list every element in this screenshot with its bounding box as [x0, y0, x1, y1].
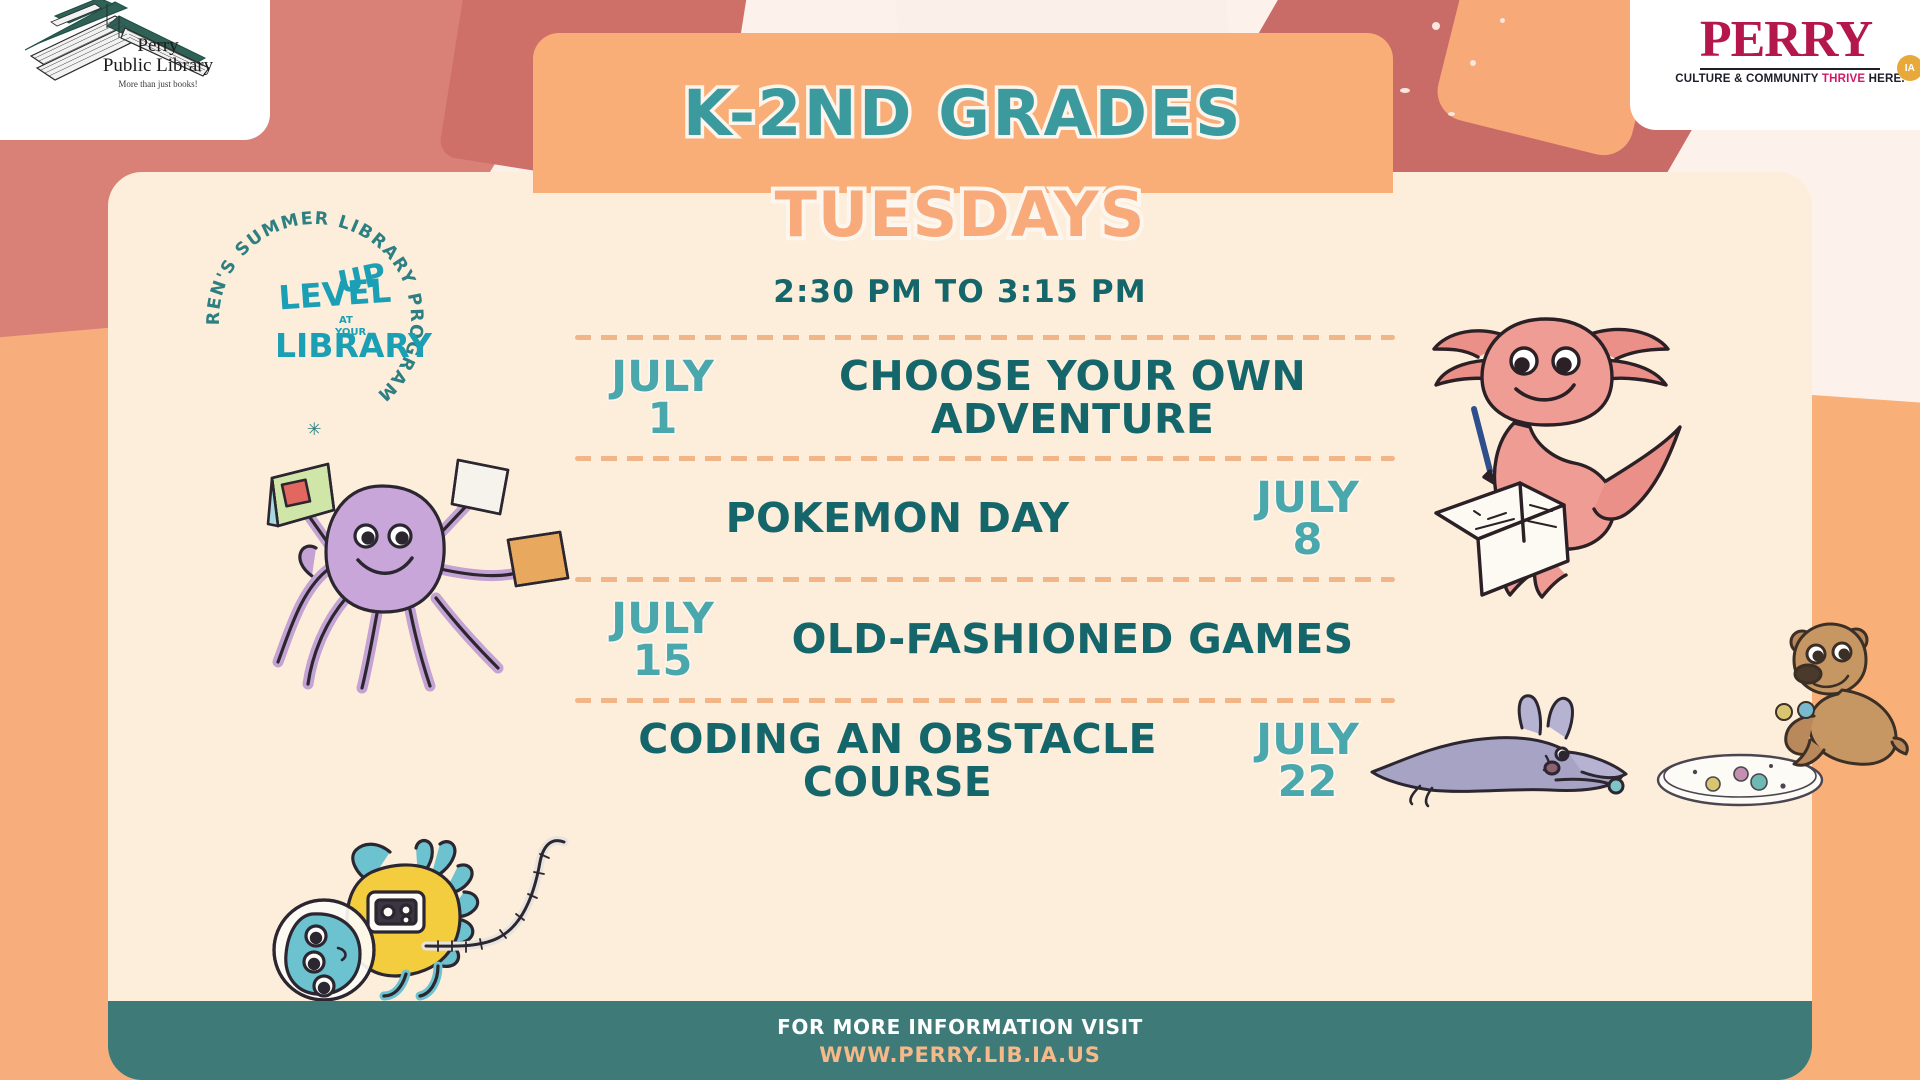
schedule-day: 8: [1220, 519, 1395, 561]
library-tagline: More than just books!: [83, 79, 233, 89]
background-speck: [1500, 18, 1505, 23]
alien-astronaut-illustration: [272, 838, 572, 1003]
banner-title: K-2ND GRADES: [683, 77, 1243, 150]
schedule-date: JULY22: [1220, 719, 1395, 803]
schedule-row: JULY22CODING AN OBSTACLE COURSE: [575, 703, 1395, 819]
background-speck: [1470, 60, 1476, 66]
bear-with-marbles-illustration: [1780, 620, 1910, 770]
octopus-with-books-illustration: [250, 448, 570, 698]
divider: [1700, 68, 1880, 70]
perry-public-library-logo: Perry Public Library More than just book…: [0, 0, 270, 140]
library-name-line1: Perry: [83, 36, 233, 56]
schedule-day: 22: [1220, 761, 1395, 803]
background-speck: [1432, 22, 1440, 30]
schedule-day: 1: [575, 398, 750, 440]
axolotl-writing-illustration: [1418, 305, 1708, 605]
schedule-event-title: CODING AN OBSTACLE COURSE: [575, 718, 1220, 805]
footer-website-url[interactable]: WWW.PERRY.LIB.IA.US: [819, 1043, 1100, 1067]
schedule-date: JULY1: [575, 356, 750, 440]
city-of-perry-logo: PERRY IA CULTURE & COMMUNITY THRIVE HERE…: [1630, 0, 1920, 130]
schedule-event-title: OLD-FASHIONED GAMES: [750, 618, 1395, 661]
aardvark-illustration: [1370, 690, 1650, 810]
badge-center-library: LIBRARY: [275, 326, 433, 365]
schedule-day: 15: [575, 640, 750, 682]
footer-line-1: FOR MORE INFORMATION VISIT: [777, 1015, 1143, 1039]
perry-state-badge: IA: [1897, 55, 1920, 81]
schedule-row: JULY1CHOOSE YOUR OWN ADVENTURE: [575, 340, 1395, 456]
badge-center-at: AT: [339, 315, 353, 326]
schedule-event-title: POKEMON DAY: [575, 497, 1220, 540]
perry-tagline: CULTURE & COMMUNITY THRIVE HERE.: [1675, 73, 1905, 85]
day-heading: TUESDAYS: [0, 178, 1920, 251]
badge-star-icon: ✳: [307, 420, 323, 440]
schedule-row: JULY8POKEMON DAY: [575, 461, 1395, 577]
schedule-row: JULY15OLD-FASHIONED GAMES: [575, 582, 1395, 698]
perry-tagline-pre: CULTURE & COMMUNITY: [1675, 73, 1822, 85]
background-speck: [1400, 88, 1410, 93]
schedule-date: JULY15: [575, 598, 750, 682]
perry-tagline-highlight: THRIVE: [1822, 73, 1865, 85]
footer-bar: FOR MORE INFORMATION VISIT WWW.PERRY.LIB…: [108, 1001, 1812, 1080]
schedule-event-title: CHOOSE YOUR OWN ADVENTURE: [750, 355, 1395, 442]
perry-wordmark: PERRY: [1700, 15, 1880, 64]
schedule-date: JULY8: [1220, 477, 1395, 561]
program-schedule: JULY1CHOOSE YOUR OWN ADVENTUREJULY8POKEM…: [575, 335, 1395, 824]
background-speck: [1448, 112, 1455, 116]
library-name-line2: Public Library: [83, 56, 233, 76]
grade-level-banner: K-2ND GRADES: [533, 33, 1393, 193]
